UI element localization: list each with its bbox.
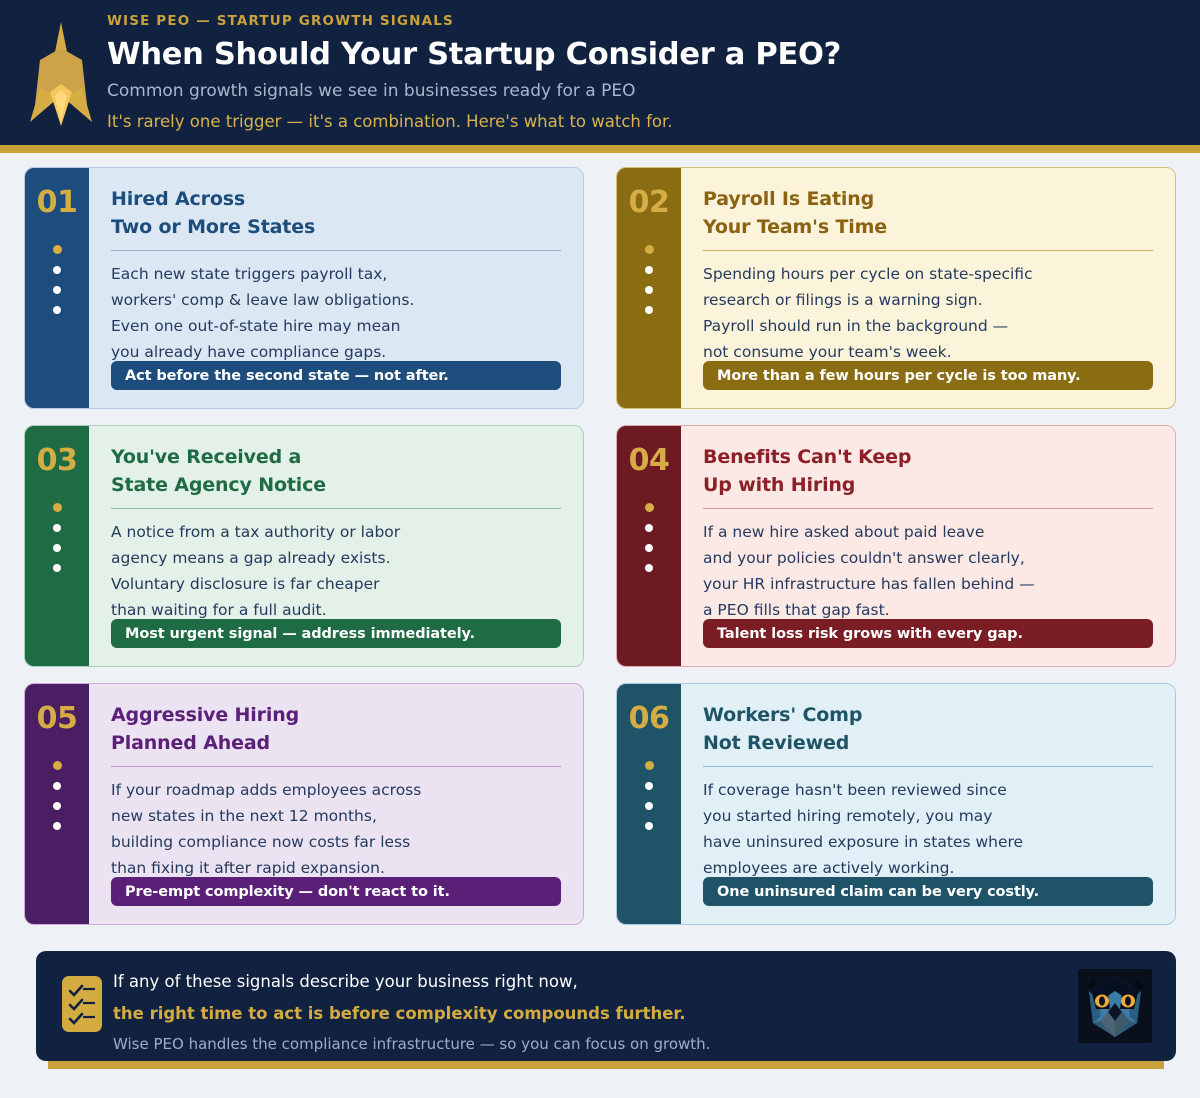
bullet-dot — [645, 822, 653, 830]
card-text-line: building compliance now costs far less — [111, 829, 561, 855]
card-takeaway-pill: Pre-empt complexity — don't react to it. — [111, 877, 561, 906]
signal-card-grid: 01 Hired Across Two or More States Each … — [24, 167, 1176, 925]
card-title-line2: Two or More States — [111, 214, 561, 242]
card-text-line: and your policies couldn't answer clearl… — [703, 545, 1153, 571]
card-title-line2: Your Team's Time — [703, 214, 1153, 242]
card-takeaway-pill: Act before the second state — not after. — [111, 361, 561, 390]
card-divider — [703, 766, 1153, 767]
card-body: Payroll Is Eating Your Team's Time Spend… — [681, 168, 1175, 408]
card-title-line2: State Agency Notice — [111, 472, 561, 500]
card-text-line: Voluntary disclosure is far cheaper — [111, 571, 561, 597]
card-text-line: A notice from a tax authority or labor — [111, 519, 561, 545]
card-body: Benefits Can't Keep Up with Hiring If a … — [681, 426, 1175, 666]
card-dot-list — [617, 761, 681, 842]
card-text-line: have uninsured exposure in states where — [703, 829, 1153, 855]
card-divider — [111, 766, 561, 767]
signal-card[interactable]: 03 You've Received a State Agency Notice… — [24, 425, 584, 667]
card-title: Aggressive Hiring Planned Ahead — [111, 702, 561, 758]
footer-text-block: If any of these signals describe your bu… — [113, 972, 1073, 1053]
page-title: When Should Your Startup Consider a PEO? — [107, 37, 1167, 72]
card-text: Spending hours per cycle on state-specif… — [703, 261, 1153, 365]
bullet-dot — [53, 266, 61, 274]
header-text-block: WISE PEO — STARTUP GROWTH SIGNALS When S… — [107, 13, 1167, 131]
bullet-dot — [53, 564, 61, 572]
page-subtitle: Common growth signals we see in business… — [107, 81, 1167, 101]
card-text-line: your HR infrastructure has fallen behind… — [703, 571, 1153, 597]
card-text-line: Payroll should run in the background — — [703, 313, 1153, 339]
bullet-dot — [53, 822, 61, 830]
card-text-line: Even one out-of-state hire may mean — [111, 313, 561, 339]
card-number: 01 — [25, 185, 89, 220]
page-kicker: It's rarely one trigger — it's a combina… — [107, 112, 1167, 131]
card-title-line1: Aggressive Hiring — [111, 702, 561, 730]
bullet-dot-active — [53, 503, 62, 512]
bullet-dot — [645, 782, 653, 790]
card-dot-list — [25, 245, 89, 326]
card-dot-list — [617, 245, 681, 326]
card-takeaway-pill: One uninsured claim can be very costly. — [703, 877, 1153, 906]
card-title-line1: Hired Across — [111, 186, 561, 214]
card-body: You've Received a State Agency Notice A … — [89, 426, 583, 666]
bullet-dot-active — [53, 761, 62, 770]
bullet-dot-active — [645, 245, 654, 254]
card-rail: 02 — [617, 168, 681, 408]
card-text-line: you started hiring remotely, you may — [703, 803, 1153, 829]
card-title-line2: Planned Ahead — [111, 730, 561, 758]
card-rail: 04 — [617, 426, 681, 666]
card-text-line: agency means a gap already exists. — [111, 545, 561, 571]
header-gold-divider — [0, 145, 1200, 153]
bullet-dot — [645, 266, 653, 274]
bullet-dot — [645, 564, 653, 572]
card-text-line: research or filings is a warning sign. — [703, 287, 1153, 313]
card-body: Hired Across Two or More States Each new… — [89, 168, 583, 408]
card-takeaway-pill: Talent loss risk grows with every gap. — [703, 619, 1153, 648]
card-divider — [703, 508, 1153, 509]
bullet-dot-active — [53, 245, 62, 254]
card-number: 04 — [617, 443, 681, 478]
card-title-line2: Up with Hiring — [703, 472, 1153, 500]
footer-line-primary: If any of these signals describe your bu… — [113, 972, 1073, 991]
bullet-dot-active — [645, 503, 654, 512]
card-text: If your roadmap adds employees across ne… — [111, 777, 561, 881]
checklist-icon — [62, 976, 102, 1032]
card-text-line: workers' comp & leave law obligations. — [111, 287, 561, 313]
owl-logo-icon — [1078, 969, 1152, 1043]
card-title-line2: Not Reviewed — [703, 730, 1153, 758]
card-dot-list — [25, 503, 89, 584]
card-text-line: If your roadmap adds employees across — [111, 777, 561, 803]
card-title: You've Received a State Agency Notice — [111, 444, 561, 500]
bullet-dot — [645, 802, 653, 810]
header-banner: WISE PEO — STARTUP GROWTH SIGNALS When S… — [0, 0, 1200, 145]
footer-callout: If any of these signals describe your bu… — [36, 951, 1176, 1061]
card-body: Workers' Comp Not Reviewed If coverage h… — [681, 684, 1175, 924]
bullet-dot — [53, 802, 61, 810]
card-text-line: If coverage hasn't been reviewed since — [703, 777, 1153, 803]
card-number: 03 — [25, 443, 89, 478]
card-number: 05 — [25, 701, 89, 736]
card-takeaway-pill: More than a few hours per cycle is too m… — [703, 361, 1153, 390]
signal-card[interactable]: 06 Workers' Comp Not Reviewed If coverag… — [616, 683, 1176, 925]
footer-gold-divider — [48, 1061, 1164, 1069]
bullet-dot-active — [645, 761, 654, 770]
card-rail: 05 — [25, 684, 89, 924]
signal-card[interactable]: 02 Payroll Is Eating Your Team's Time Sp… — [616, 167, 1176, 409]
card-title-line1: Workers' Comp — [703, 702, 1153, 730]
card-text-line: new states in the next 12 months, — [111, 803, 561, 829]
card-text-line: If a new hire asked about paid leave — [703, 519, 1153, 545]
bullet-dot — [645, 544, 653, 552]
eyebrow-label: WISE PEO — STARTUP GROWTH SIGNALS — [107, 13, 1167, 29]
card-rail: 03 — [25, 426, 89, 666]
card-body: Aggressive Hiring Planned Ahead If your … — [89, 684, 583, 924]
card-title: Payroll Is Eating Your Team's Time — [703, 186, 1153, 242]
card-title: Hired Across Two or More States — [111, 186, 561, 242]
bullet-dot — [645, 306, 653, 314]
card-text-line: Spending hours per cycle on state-specif… — [703, 261, 1153, 287]
bullet-dot — [53, 524, 61, 532]
bullet-dot — [645, 524, 653, 532]
bullet-dot — [53, 286, 61, 294]
signal-card[interactable]: 01 Hired Across Two or More States Each … — [24, 167, 584, 409]
card-number: 02 — [617, 185, 681, 220]
card-text: Each new state triggers payroll tax, wor… — [111, 261, 561, 365]
card-takeaway-pill: Most urgent signal — address immediately… — [111, 619, 561, 648]
card-dot-list — [617, 503, 681, 584]
footer-line-emphasis: the right time to act is before complexi… — [113, 1004, 1073, 1023]
card-divider — [111, 250, 561, 251]
bullet-dot — [53, 782, 61, 790]
card-text-line: Each new state triggers payroll tax, — [111, 261, 561, 287]
bullet-dot — [645, 286, 653, 294]
infographic-page: WISE PEO — STARTUP GROWTH SIGNALS When S… — [0, 0, 1200, 1098]
rocket-icon — [22, 18, 100, 130]
card-divider — [111, 508, 561, 509]
bullet-dot — [53, 544, 61, 552]
footer-line-secondary: Wise PEO handles the compliance infrastr… — [113, 1035, 1073, 1053]
card-title-line1: Benefits Can't Keep — [703, 444, 1153, 472]
signal-card[interactable]: 04 Benefits Can't Keep Up with Hiring If… — [616, 425, 1176, 667]
card-rail: 06 — [617, 684, 681, 924]
card-text: A notice from a tax authority or labor a… — [111, 519, 561, 623]
card-number: 06 — [617, 701, 681, 736]
bullet-dot — [53, 306, 61, 314]
card-title: Workers' Comp Not Reviewed — [703, 702, 1153, 758]
card-title: Benefits Can't Keep Up with Hiring — [703, 444, 1153, 500]
card-text: If coverage hasn't been reviewed since y… — [703, 777, 1153, 881]
card-divider — [703, 250, 1153, 251]
card-title-line1: You've Received a — [111, 444, 561, 472]
card-rail: 01 — [25, 168, 89, 408]
card-title-line1: Payroll Is Eating — [703, 186, 1153, 214]
card-text: If a new hire asked about paid leave and… — [703, 519, 1153, 623]
card-dot-list — [25, 761, 89, 842]
signal-card[interactable]: 05 Aggressive Hiring Planned Ahead If yo… — [24, 683, 584, 925]
